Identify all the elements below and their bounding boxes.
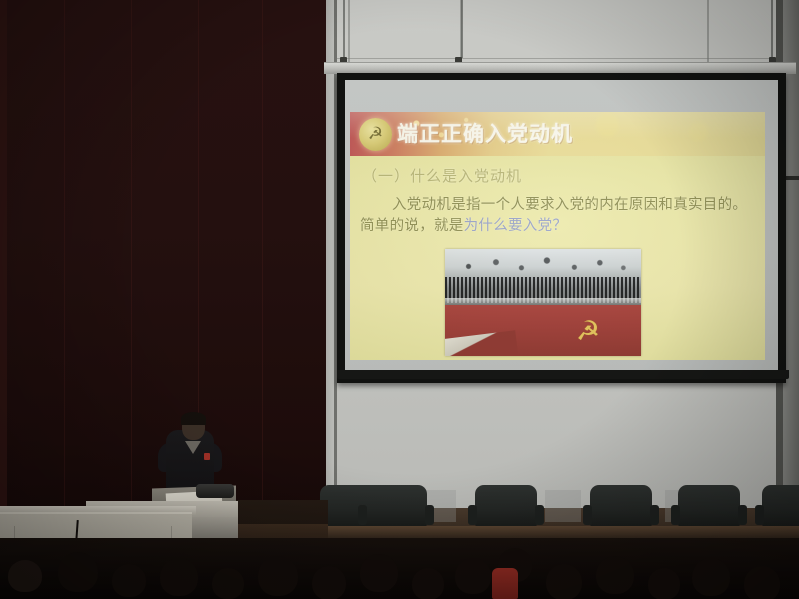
projected-slide: ☭ 端正正确入党动机 （一）什么是入党动机 入党动机是指一个人要求入党的内在原因… xyxy=(350,112,765,360)
flag-hammer-sickle-icon: ☭ xyxy=(565,317,611,347)
seat-gap xyxy=(545,490,581,522)
slide-body-text: 入党动机是指一个人要求入党的内在原因和真实目的。简单的说，就是为什么要入党？ xyxy=(360,195,754,237)
auditorium-seat xyxy=(475,485,537,527)
auditorium-seat xyxy=(678,485,740,527)
wall-seam xyxy=(707,0,709,70)
audience-red-garment xyxy=(492,568,518,599)
curtain-edge xyxy=(0,0,7,560)
slide-photo: ☭ xyxy=(445,249,641,356)
slide-title: 端正正确入党动机 xyxy=(397,119,573,149)
wall-hairline xyxy=(330,58,796,59)
photograph-scene: ☭ 端正正确入党动机 （一）什么是入党动机 入党动机是指一个人要求入党的内在原因… xyxy=(0,0,799,599)
speaker-hair xyxy=(181,412,206,425)
screen-bottom-bar xyxy=(337,370,789,379)
stage-curtain xyxy=(0,0,326,560)
slide-body-highlight: 为什么要入党？ xyxy=(464,218,568,234)
microphone-cluster xyxy=(196,484,234,498)
party-emblem-icon: ☭ xyxy=(359,118,392,151)
auditorium-seat xyxy=(762,485,799,527)
audience-area xyxy=(0,538,799,599)
wall-seam xyxy=(348,0,350,70)
auditorium-seat xyxy=(365,485,427,527)
photo-distant-figures xyxy=(445,251,641,279)
emblem-glyph: ☭ xyxy=(364,126,387,143)
screen-hanger xyxy=(343,0,345,58)
auditorium-seat xyxy=(590,485,652,527)
screen-hanger xyxy=(461,0,463,58)
screen-hanger xyxy=(771,0,773,58)
slide-subheading: （一）什么是入党动机 xyxy=(362,166,522,186)
speaker-lapel-badge xyxy=(204,453,210,460)
